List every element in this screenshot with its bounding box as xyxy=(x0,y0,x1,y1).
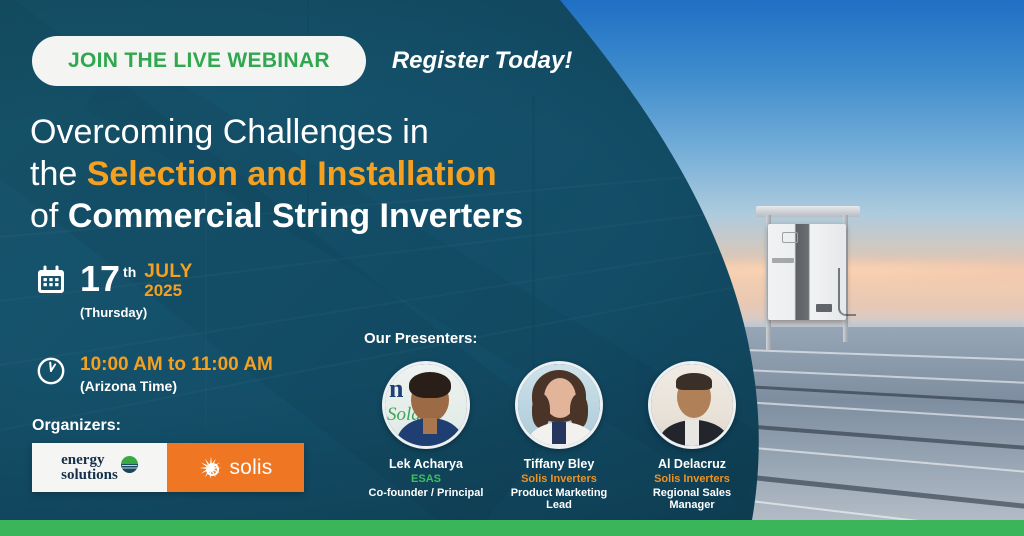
page-title: Overcoming Challenges in the Selection a… xyxy=(30,112,523,237)
headline-line-2-accent: Selection and Installation xyxy=(87,155,497,193)
avatar: n Sola xyxy=(382,361,470,449)
event-timezone: (Arizona Time) xyxy=(80,378,273,394)
time-row: 10:00 AM to 11:00 AM (Arizona Time) xyxy=(28,354,273,394)
presenter-role: Regional Sales Manager xyxy=(630,487,754,511)
energy-solutions-logo: energy solutions xyxy=(32,443,167,492)
solis-logo: solis xyxy=(167,443,304,492)
clock-icon xyxy=(28,354,74,386)
organizer-logos: energy solutions xyxy=(32,443,304,492)
presenter-org: Solis Inverters xyxy=(630,473,754,485)
avatar xyxy=(515,361,603,449)
avatar xyxy=(648,361,736,449)
calendar-icon xyxy=(28,262,74,296)
join-webinar-button[interactable]: JOIN THE LIVE WEBINAR xyxy=(32,36,366,86)
presenters-block: Our Presenters: n Sola Lek Acharya ESAS … xyxy=(364,330,754,511)
organizers-block: Organizers: energy solutions xyxy=(32,417,304,492)
event-time: 10:00 AM to 11:00 AM xyxy=(80,354,273,376)
event-month: JULY xyxy=(144,262,192,281)
event-year: 2025 xyxy=(144,282,192,299)
date-row: 17 th JULY 2025 (Thursday) xyxy=(28,262,273,320)
cta-row: JOIN THE LIVE WEBINAR Register Today! xyxy=(32,36,572,86)
headline-line-3-prefix: of xyxy=(30,197,68,235)
presenters-title: Our Presenters: xyxy=(364,330,754,347)
presenter-name: Lek Acharya xyxy=(364,457,488,471)
presenter-name: Al Delacruz xyxy=(630,457,754,471)
event-weekday: (Thursday) xyxy=(80,305,193,320)
energy-solutions-mark-icon xyxy=(121,456,138,473)
energy-solutions-line2: solutions xyxy=(61,468,118,483)
presenter-card: Tiffany Bley Solis Inverters Product Mar… xyxy=(497,361,621,511)
event-day-ordinal: th xyxy=(123,264,136,280)
energy-solutions-line1: energy xyxy=(61,452,104,468)
organizers-label: Organizers: xyxy=(32,417,304,435)
presenter-org: ESAS xyxy=(364,473,488,485)
solis-wordmark: solis xyxy=(229,456,272,480)
presenter-card: Al Delacruz Solis Inverters Regional Sal… xyxy=(630,361,754,511)
bottom-accent-bar xyxy=(0,520,1024,536)
presenter-card: n Sola Lek Acharya ESAS Co-founder / Pri… xyxy=(364,361,488,511)
presenter-org: Solis Inverters xyxy=(497,473,621,485)
presenter-name: Tiffany Bley xyxy=(497,457,621,471)
register-today-text: Register Today! xyxy=(392,47,572,75)
headline-line-3-accent: Commercial String Inverters xyxy=(68,197,523,235)
headline-line-3: of Commercial String Inverters xyxy=(30,196,523,238)
presenter-role: Co-founder / Principal xyxy=(364,487,488,499)
headline-line-2: the Selection and Installation xyxy=(30,154,523,196)
headline-line-1: Overcoming Challenges in xyxy=(30,112,523,154)
event-day: 17 xyxy=(80,262,120,296)
headline-line-2-prefix: the xyxy=(30,155,87,193)
webinar-banner: JOIN THE LIVE WEBINAR Register Today! Ov… xyxy=(0,0,1024,536)
sunburst-icon xyxy=(198,455,223,480)
date-time-block: 17 th JULY 2025 (Thursday) xyxy=(28,262,273,394)
presenter-role: Product Marketing Lead xyxy=(497,487,621,511)
